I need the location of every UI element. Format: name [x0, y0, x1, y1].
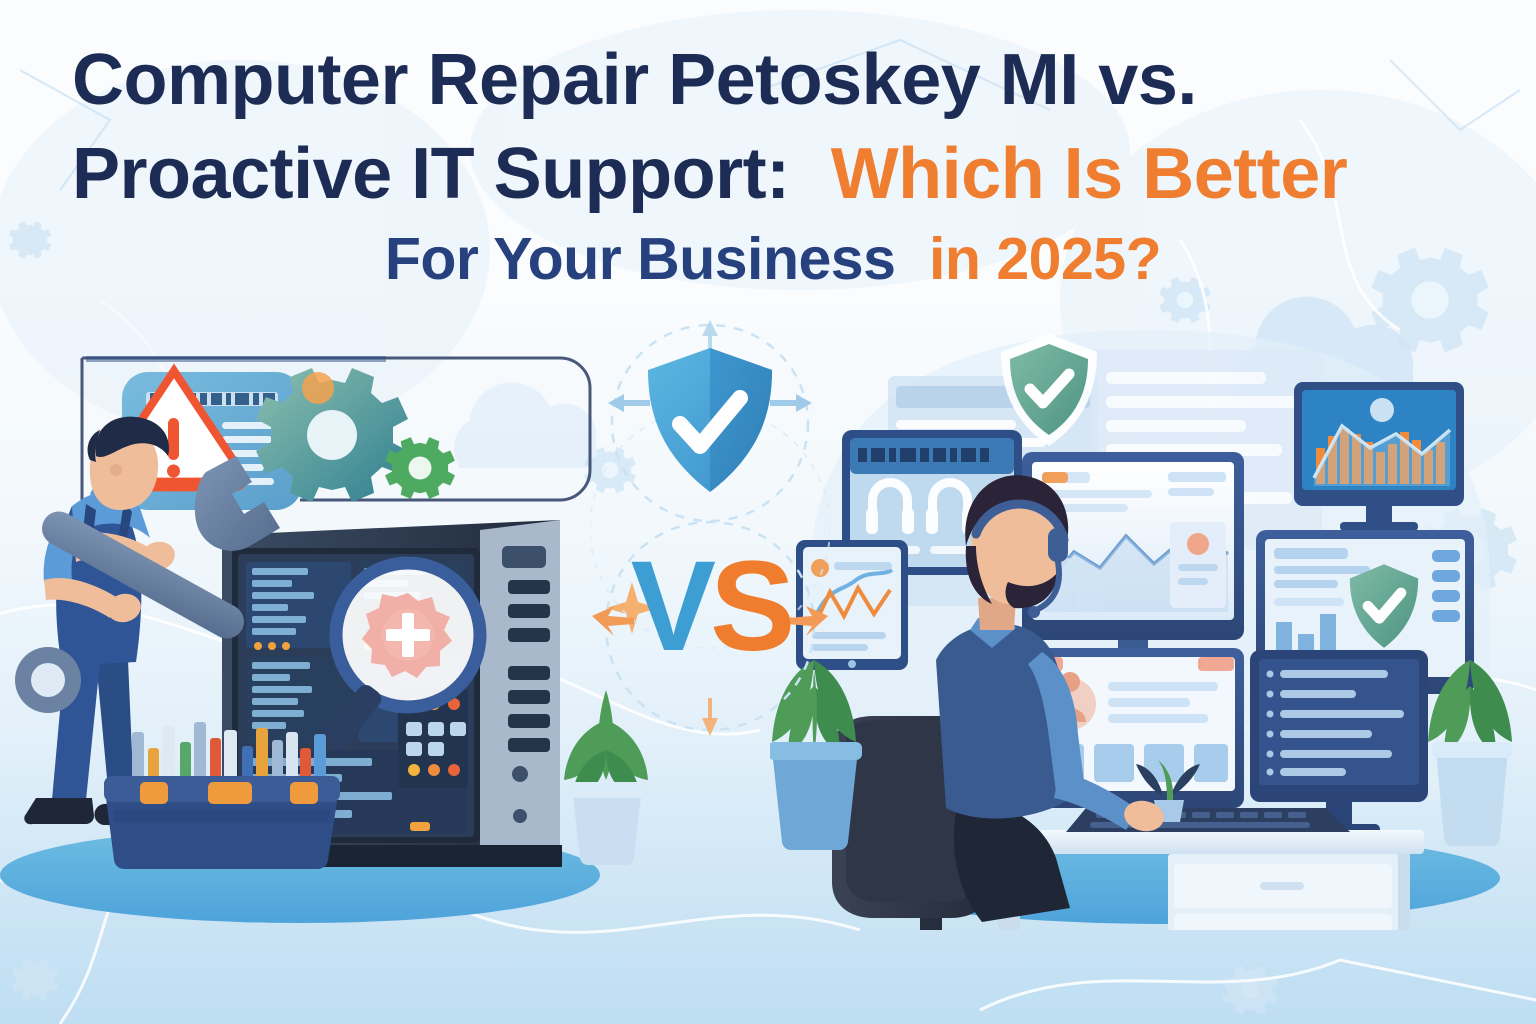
- headline-line2-navy: Proactive IT Support:: [72, 134, 790, 214]
- headline-line3-navy: For Your Business: [385, 226, 896, 292]
- headline-line-3: For Your Business in 2025?: [0, 230, 1536, 289]
- headline-line3-orange: in 2025?: [929, 226, 1161, 292]
- headline-line2-orange: Which Is Better: [831, 134, 1348, 214]
- arrow-left-icon: [608, 394, 650, 412]
- shield-check-icon: [648, 348, 772, 492]
- vs-label: VS: [590, 543, 830, 671]
- reactive-repair-scene: [0, 330, 660, 930]
- headline-line-1: Computer Repair Petoskey MI vs.: [0, 44, 1536, 116]
- screen-terminal-log: [1250, 650, 1428, 835]
- vs-letter-s: S: [710, 535, 789, 678]
- proactive-it-support-scene: [770, 330, 1536, 930]
- hero-banner: Computer Repair Petoskey MI vs. Proactiv…: [0, 0, 1536, 1024]
- headline-block: Computer Repair Petoskey MI vs. Proactiv…: [0, 44, 1536, 289]
- headline-line-2: Proactive IT Support: Which Is Better: [0, 138, 1536, 210]
- headline-line1-navy: Computer Repair Petoskey MI vs.: [72, 40, 1197, 120]
- vs-letter-v: V: [631, 535, 710, 678]
- arrow-right-icon: [770, 394, 812, 412]
